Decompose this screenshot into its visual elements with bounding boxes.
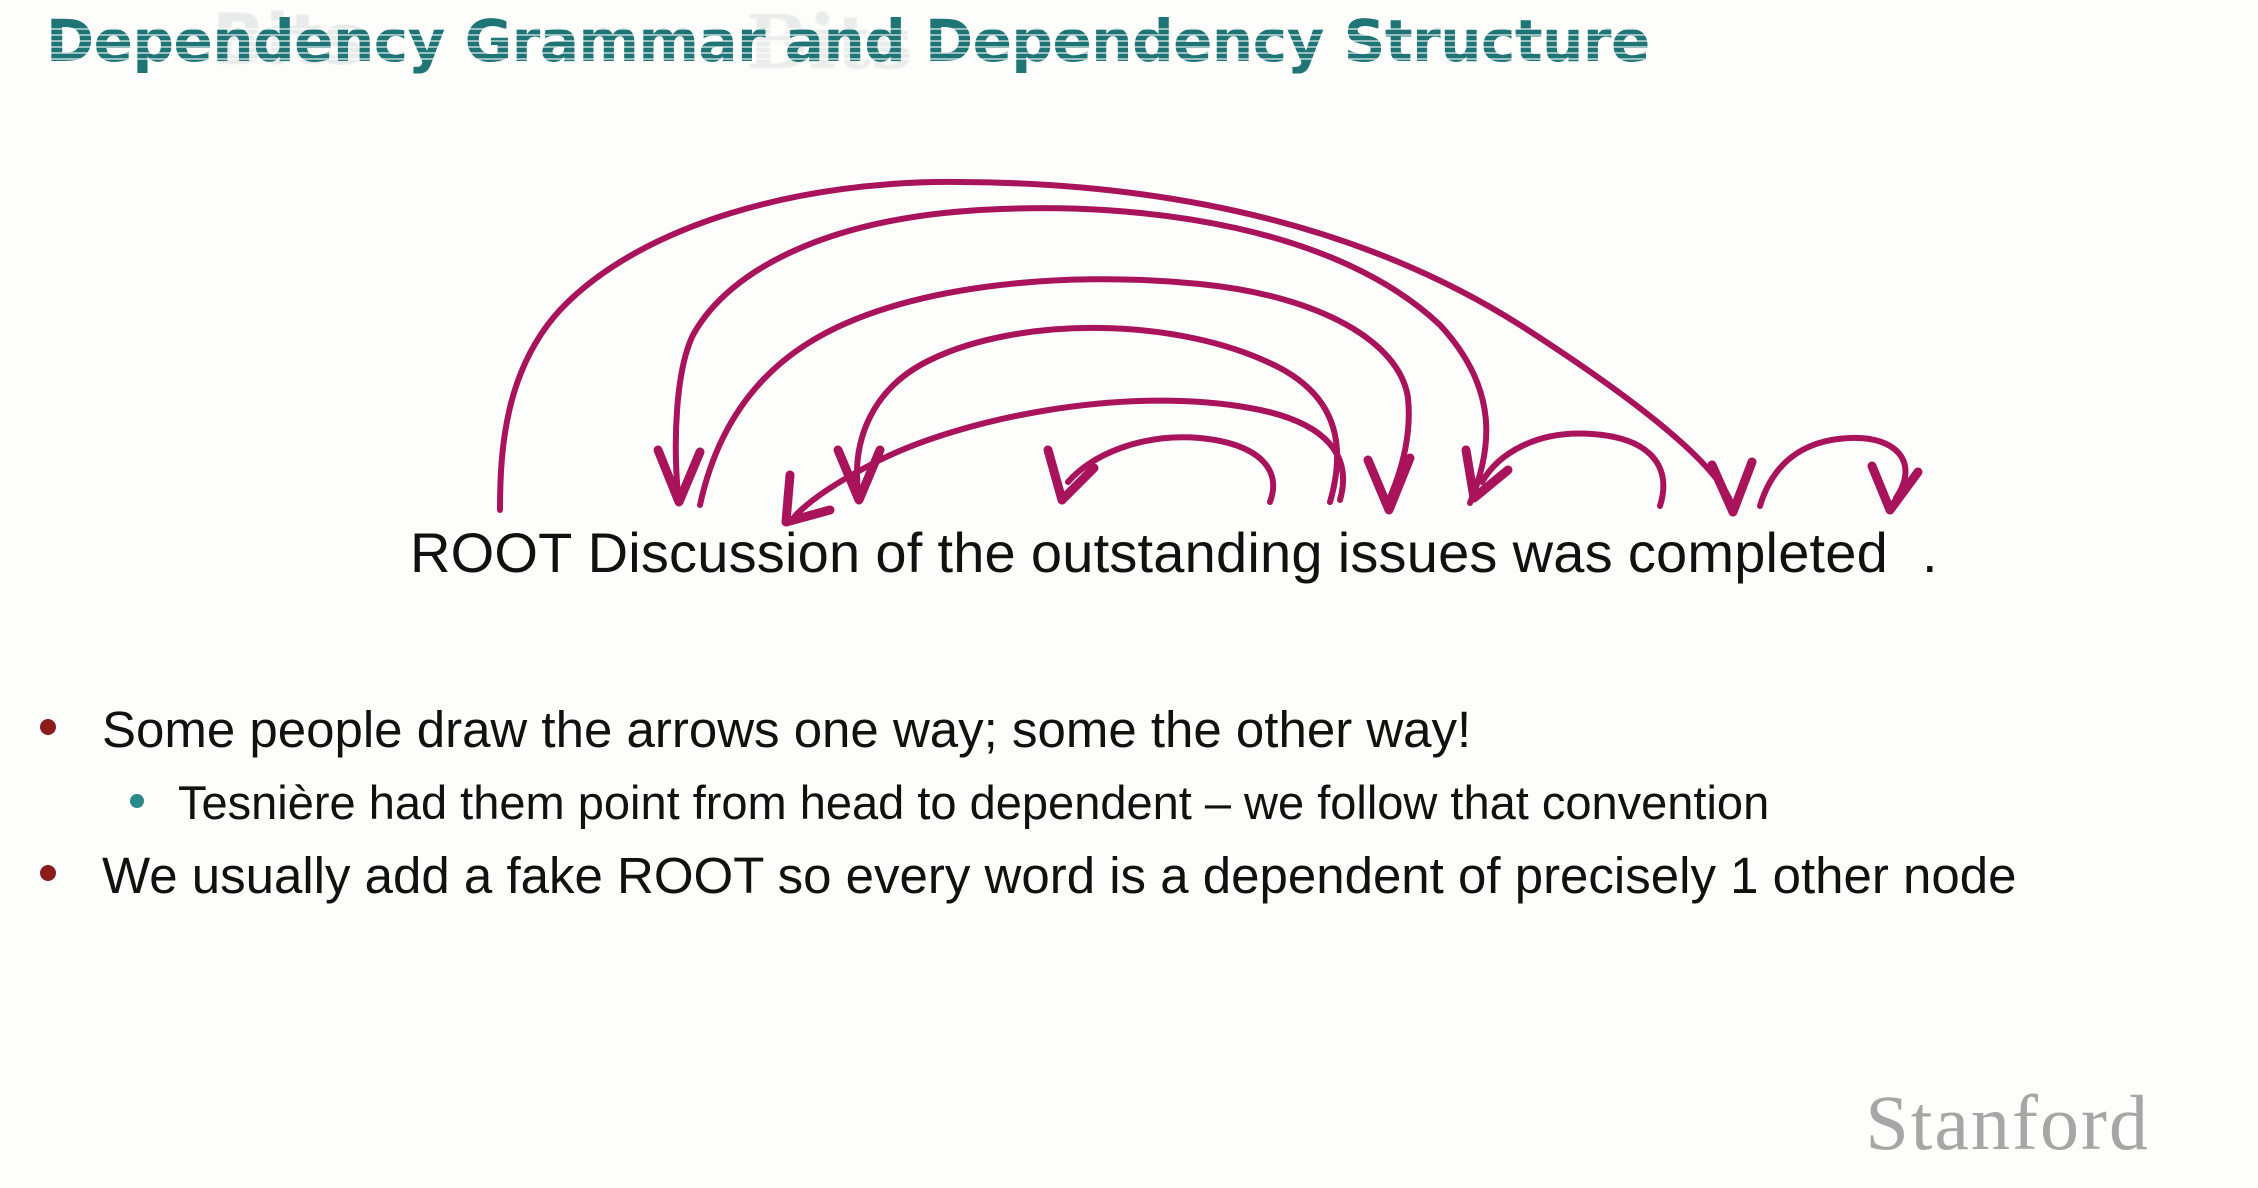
bullet-item-3-label: We usually add a fake ROOT so every word… [102,846,2017,905]
sub-bullet-dot-icon [130,794,144,808]
bullet-item-1-label: Some people draw the arrows one way; som… [102,700,1471,759]
arc-issues-to-outstanding [1048,437,1273,502]
sentence-word-the: the [937,520,1015,585]
page-title: Dependency Grammar and Dependency Struct… [46,2,1650,80]
sentence-word-issues: issues [1338,520,1498,585]
parsed-sentence: ROOTDiscussionoftheoutstandingissueswasc… [410,520,1938,585]
sentence-word-completed: completed [1628,520,1888,585]
bullet-item-2-label: Tesnière had them point from head to dep… [178,775,1769,830]
sentence-word-was: was [1513,520,1613,585]
sentence-word-period: . [1922,520,1938,585]
sentence-word-discussion: Discussion [588,520,861,585]
bullet-item-3: We usually add a fake ROOT so every word… [0,846,2258,905]
sentence-word-of: of [875,520,922,585]
stanford-logo: Stanford [1865,1078,2150,1168]
arc-completed-to-period [1760,438,1918,510]
bullet-dot-icon [40,865,56,881]
arc-completed-to-was [1466,434,1663,506]
sentence-word-root: ROOT [410,520,573,585]
bullet-item-2: Tesnière had them point from head to dep… [0,775,2258,830]
slide-header: Bits Bits Dependency Grammar and Depende… [46,2,2166,86]
dependency-diagram: .arc { fill: none; stroke: #a8135c; stro… [0,120,2258,640]
bullet-dot-icon [40,719,56,735]
arc-completed-to-discussion [658,208,1486,503]
bullet-item-1: Some people draw the arrows one way; som… [0,700,2258,759]
bullet-list: Some people draw the arrows one way; som… [0,700,2258,921]
slide-canvas: Bits Bits Dependency Grammar and Depende… [0,0,2258,1188]
sentence-word-outstanding: outstanding [1031,520,1323,585]
